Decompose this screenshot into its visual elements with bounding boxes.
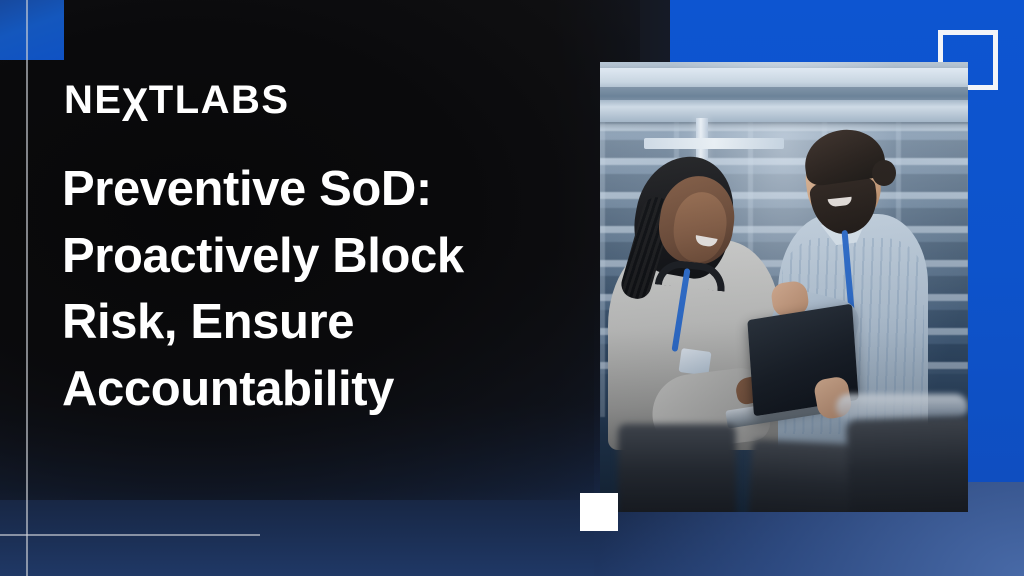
foreground-monitor-1 xyxy=(618,424,736,512)
foreground-monitor-3 xyxy=(846,416,968,512)
man-hair-bun xyxy=(872,160,896,186)
corner-block-accent xyxy=(0,0,64,60)
hero-photo xyxy=(600,62,968,512)
white-square-accent xyxy=(580,493,618,531)
foreground-monitor-2 xyxy=(748,439,857,512)
photo-scene xyxy=(600,62,968,512)
logo-x-glyph: X xyxy=(122,82,150,129)
headline-line-4: Accountability xyxy=(62,356,592,423)
headline-line-3: Risk, Ensure xyxy=(62,289,592,356)
headline-line-2: Proactively Block xyxy=(62,223,592,290)
logo-text-before: NE xyxy=(64,80,123,120)
ceiling-truss xyxy=(600,68,968,122)
logo-text-after: TLABS xyxy=(149,80,290,120)
headline-line-1: Preventive SoD: xyxy=(62,156,592,223)
banner-slide: NEXTLABS Preventive SoD: Proactively Blo… xyxy=(0,0,1024,576)
vertical-rule xyxy=(26,0,28,576)
nextlabs-logo: NEXTLABS xyxy=(64,80,290,120)
horizontal-rule xyxy=(0,534,260,536)
page-title: Preventive SoD: Proactively Block Risk, … xyxy=(62,156,592,423)
